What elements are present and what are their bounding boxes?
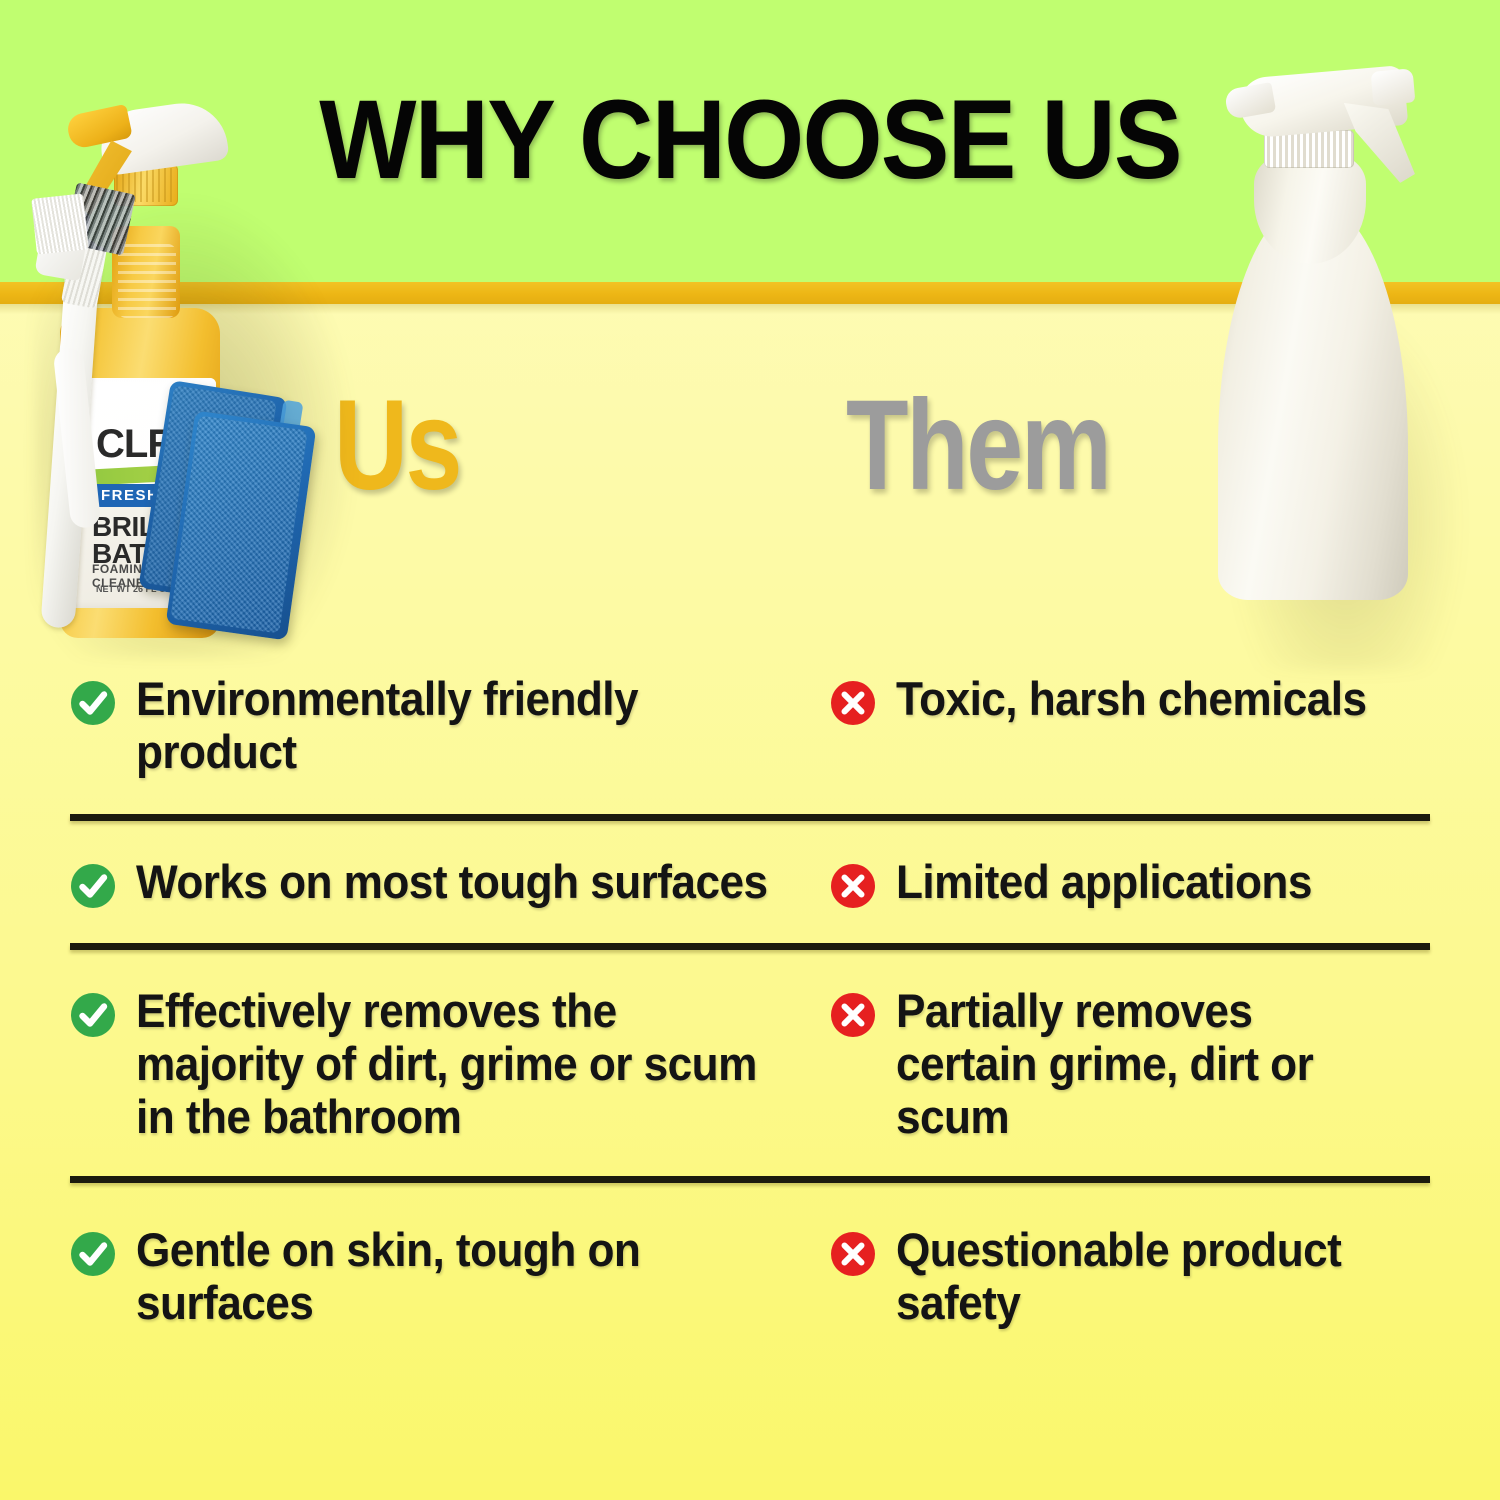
row-text-them: Limited applications bbox=[896, 855, 1312, 908]
row-text-us: Effectively removes the majority of dirt… bbox=[136, 984, 773, 1143]
row-text-them: Partially removes certain grime, dirt or… bbox=[896, 984, 1398, 1143]
cross-circle-icon bbox=[830, 680, 876, 726]
row-divider bbox=[70, 814, 1430, 821]
check-circle-icon bbox=[70, 992, 116, 1038]
row-cell-us: Environmentally friendly product bbox=[70, 672, 830, 778]
column-heading-us: Us bbox=[334, 382, 460, 510]
blue-sponge-back-texture bbox=[143, 385, 277, 599]
row-divider bbox=[70, 943, 1430, 950]
table-row: Effectively removes the majority of dirt… bbox=[0, 950, 1500, 1175]
label-volume-text: NET WT 26 FL OZ (769 mL) bbox=[96, 584, 211, 594]
row-cell-them: Limited applications bbox=[830, 855, 1430, 909]
table-row: Gentle on skin, tough on surfaces Questi… bbox=[0, 1183, 1500, 1329]
blue-sponge-front-texture bbox=[170, 415, 307, 633]
row-divider bbox=[70, 1176, 1430, 1183]
comparison-poster: WHY CHOOSE US Us Them CLR FRESH BRILLIAN… bbox=[0, 0, 1500, 1500]
row-cell-them: Questionable product safety bbox=[830, 1223, 1430, 1329]
cross-circle-icon bbox=[830, 863, 876, 909]
row-cell-them: Partially removes certain grime, dirt or… bbox=[830, 984, 1430, 1143]
label-sunburst-graphic bbox=[66, 378, 216, 486]
white-bottle-shadow bbox=[1226, 300, 1466, 670]
row-cell-us: Gentle on skin, tough on surfaces bbox=[70, 1223, 830, 1329]
blue-sponge-edge bbox=[252, 400, 303, 601]
check-circle-icon bbox=[70, 1231, 116, 1277]
brush-handle-curve bbox=[53, 347, 102, 529]
check-circle-icon bbox=[70, 863, 116, 909]
row-cell-us: Works on most tough surfaces bbox=[70, 855, 830, 909]
label-brand-text: CLR bbox=[96, 424, 175, 464]
row-cell-them: Toxic, harsh chemicals bbox=[830, 672, 1430, 778]
check-circle-icon bbox=[70, 680, 116, 726]
spray-bottle-body bbox=[60, 308, 220, 638]
row-text-us: Environmentally friendly product bbox=[136, 672, 773, 778]
row-cell-us: Effectively removes the majority of dirt… bbox=[70, 984, 830, 1143]
spray-bottle-label: CLR FRESH BRILLIANT BATH FOAMING ACTION … bbox=[66, 378, 216, 608]
table-row: Works on most tough surfaces Limited app… bbox=[0, 821, 1500, 943]
page-title: WHY CHOOSE US bbox=[60, 84, 1440, 196]
comparison-table: Environmentally friendly product Toxic, … bbox=[0, 672, 1500, 1329]
header-stripe-shadow bbox=[0, 304, 1500, 314]
blue-sponge-front bbox=[166, 411, 317, 641]
row-text-them: Toxic, harsh chemicals bbox=[896, 672, 1367, 725]
label-product-name: BRILLIANT BATH bbox=[92, 514, 216, 568]
row-text-us: Works on most tough surfaces bbox=[136, 855, 767, 908]
row-text-them: Questionable product safety bbox=[896, 1223, 1398, 1329]
cross-circle-icon bbox=[830, 1231, 876, 1277]
blue-sponge-back bbox=[138, 380, 287, 606]
column-heading-them: Them bbox=[846, 382, 1110, 510]
label-green-band bbox=[66, 461, 216, 487]
label-fresh-badge: FRESH bbox=[92, 484, 216, 507]
table-row: Environmentally friendly product Toxic, … bbox=[0, 672, 1500, 814]
label-product-desc: FOAMING ACTION CLEANER bbox=[92, 562, 216, 590]
row-text-us: Gentle on skin, tough on surfaces bbox=[136, 1223, 773, 1329]
header-gold-stripe bbox=[0, 282, 1500, 304]
cross-circle-icon bbox=[830, 992, 876, 1038]
